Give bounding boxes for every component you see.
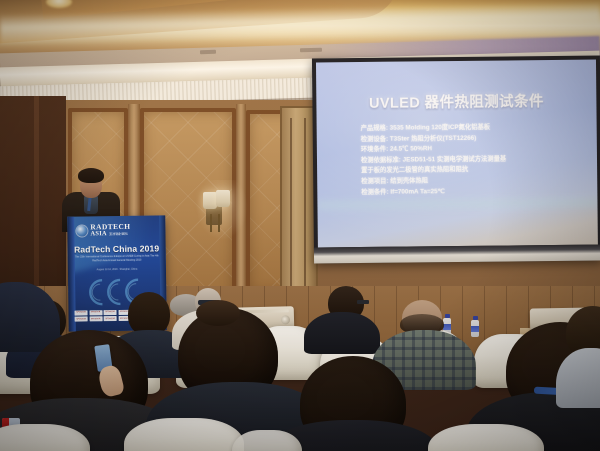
trim-groove	[290, 118, 292, 288]
presenter-hair	[78, 168, 104, 183]
event-title: RadTech China 2019	[68, 243, 166, 254]
bottle-cap	[445, 314, 450, 318]
radtech-logo-text: RADTECH ASIA 亚洲辐射固化	[90, 223, 130, 237]
sponsor-logo: SPONSOR	[75, 310, 88, 315]
event-date: August 12-14, 2019 · Shanghai, China	[74, 267, 160, 271]
projector-lens-icon	[281, 315, 290, 324]
sconce-arm	[210, 214, 212, 232]
wall-pillar	[236, 104, 246, 300]
sconce-lampshade	[203, 192, 217, 209]
chair	[124, 418, 244, 451]
ceiling-vent	[200, 50, 216, 54]
sconce-arm	[218, 214, 220, 232]
slide-body-text: 产品规格: 3535 Molding 120度ICP氮化铝基板 检测设备: T3…	[361, 122, 584, 198]
globe-icon	[76, 225, 87, 236]
conference-room-photo: UVLED 器件热阻测试条件 产品规格: 3535 Molding 120度IC…	[0, 0, 600, 451]
sponsor-logo: SPONSOR	[104, 316, 117, 321]
logo-region-cn-text: 亚洲辐射固化	[109, 232, 128, 235]
projection-screen: UVLED 器件热阻测试条件 产品规格: 3535 Molding 120度IC…	[312, 55, 600, 263]
logo-region-row: ASIA 亚洲辐射固化	[90, 230, 130, 237]
bottle-label	[471, 326, 479, 332]
event-subtitle: The 15th International Conference & Expo…	[74, 254, 160, 262]
sconce-lampshade	[216, 190, 230, 207]
eyeglasses-icon	[357, 300, 369, 304]
audience-member-hair-bun	[196, 300, 240, 326]
sponsor-logo: SPONSOR	[104, 310, 117, 315]
bottle-cap	[473, 316, 478, 320]
sponsor-logo: SPONSOR	[89, 316, 102, 321]
projection-screen-surface: UVLED 器件热阻测试条件 产品规格: 3535 Molding 120度IC…	[316, 60, 598, 248]
ceiling-vent	[300, 48, 322, 53]
sponsor-logo: SPONSOR	[89, 310, 102, 315]
screen-light-streak	[317, 195, 597, 214]
logo-region-text: ASIA	[90, 231, 107, 238]
radtech-logo: RADTECH ASIA 亚洲辐射固化	[76, 221, 160, 238]
slide-title: UVLED 器件热阻测试条件	[316, 90, 596, 114]
trim-groove	[304, 118, 306, 288]
screen-bottom-bar	[314, 244, 600, 263]
audience-member-shoulders	[304, 312, 380, 354]
water-bottle	[471, 320, 479, 337]
bottle-label	[443, 324, 451, 330]
sponsor-logo: SPONSOR	[75, 316, 88, 321]
